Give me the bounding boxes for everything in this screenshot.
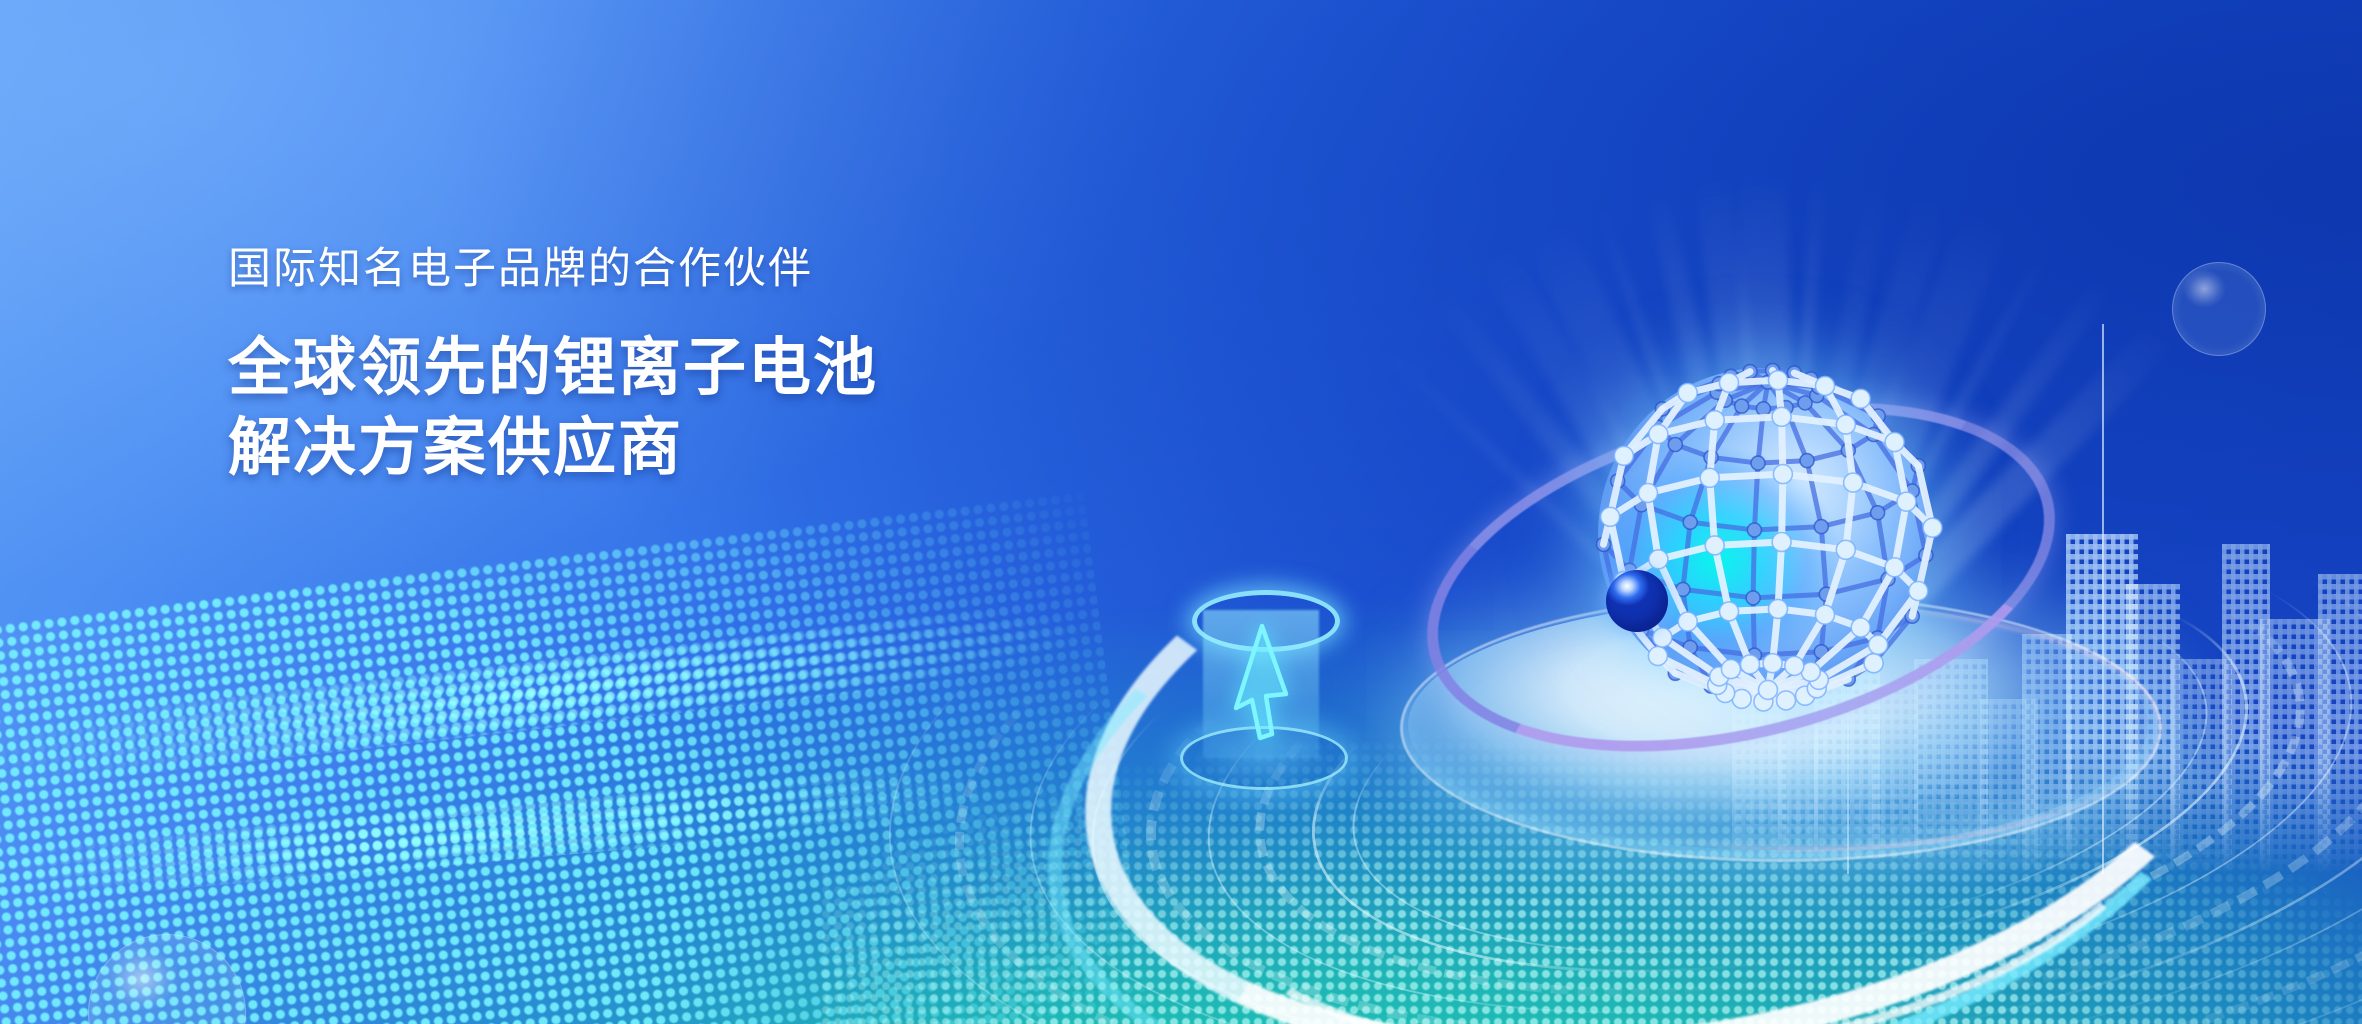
- orbit-node-sphere: [1606, 570, 1668, 632]
- banner-headline-line1: 全球领先的锂离子电池: [228, 329, 1228, 408]
- banner-subtitle: 国际知名电子品牌的合作伙伴: [228, 246, 1228, 293]
- wireframe-globe: [1568, 336, 1968, 736]
- banner-headline-line2: 解决方案供应商: [228, 409, 1228, 488]
- translucent-bubble-top-right: [2172, 262, 2266, 356]
- upward-cursor-arrow-icon: [1222, 620, 1302, 770]
- headline-copy-block: 国际知名电子品牌的合作伙伴 全球领先的锂离子电池 解决方案供应商: [228, 246, 1228, 488]
- hero-banner: 国际知名电子品牌的合作伙伴 全球领先的锂离子电池 解决方案供应商: [0, 0, 2362, 1024]
